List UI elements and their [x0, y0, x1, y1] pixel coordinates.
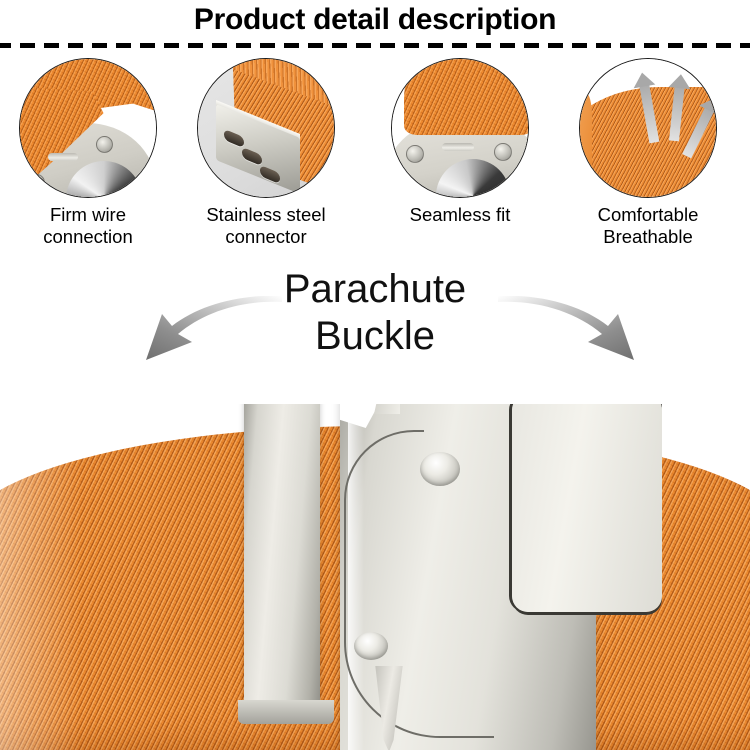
- buckle-left-bar: [244, 404, 320, 718]
- feature-row: Firm wire connection Stainless steel: [0, 58, 750, 248]
- feature-item-seamless-fit: Seamless fit: [366, 58, 554, 248]
- feature-caption-seamless-fit: Seamless fit: [366, 204, 554, 226]
- feature-image-stainless-steel-connector: [197, 58, 335, 198]
- strap-highlight: [0, 426, 80, 750]
- buckle-rivet-upper: [420, 452, 460, 486]
- hero-title-line-2: Buckle: [315, 314, 435, 358]
- curved-arrow-left-icon: [132, 296, 282, 380]
- feature-item-firm-wire-connection: Firm wire connection: [0, 58, 182, 248]
- feature-item-stainless-steel-connector: Stainless steel connector: [172, 58, 360, 248]
- feature-image-seamless-fit: [391, 58, 529, 198]
- caption-line-1: Comfortable: [598, 204, 699, 225]
- header-dashed-divider: [0, 43, 750, 48]
- caption-line-1: Stainless steel: [206, 204, 325, 225]
- feature-image-firm-wire-connection: [19, 58, 157, 198]
- caption-line-2: Breathable: [603, 226, 692, 247]
- feature-image-comfortable-breathable: [579, 58, 717, 198]
- caption-line-2: connection: [43, 226, 132, 247]
- buckle-left-foot: [238, 700, 334, 724]
- caption-line-2: connector: [225, 226, 306, 247]
- hero-title-line-1: Parachute: [284, 267, 466, 311]
- buckle-recessed-panel: [512, 404, 662, 612]
- page-title: Product detail description: [0, 3, 750, 37]
- product-detail-page: Product detail description Firm wire con…: [0, 0, 750, 750]
- buckle-rivet-lower: [354, 632, 388, 660]
- feature-caption-comfortable-breathable: Comfortable Breathable: [554, 204, 742, 248]
- curved-arrow-right-icon: [498, 296, 648, 380]
- feature-caption-stainless-steel-connector: Stainless steel connector: [172, 204, 360, 248]
- feature-caption-firm-wire-connection: Firm wire connection: [0, 204, 182, 248]
- buckle-tooth: [374, 404, 400, 414]
- metal-parachute-buckle: [244, 404, 596, 750]
- hero-buckle-image: [0, 404, 750, 750]
- feature-item-comfortable-breathable: Comfortable Breathable: [554, 58, 742, 248]
- caption-line-1: Firm wire: [50, 204, 126, 225]
- caption-line-1: Seamless fit: [410, 204, 511, 225]
